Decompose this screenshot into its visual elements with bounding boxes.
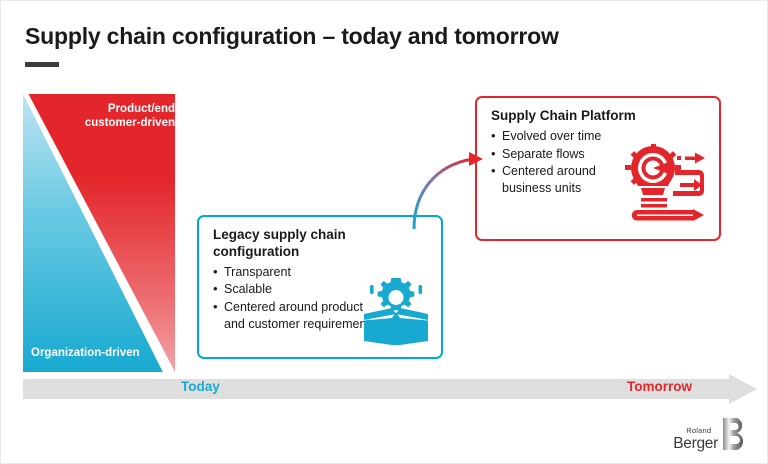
split-label-organization-driven: Organization-driven (31, 346, 151, 360)
logo-line-roland: Roland (686, 427, 711, 435)
logo-b-mark-icon (721, 417, 749, 451)
card-platform-body: Supply Chain Platform Evolved over time … (477, 98, 719, 239)
list-item: Evolved over time (491, 128, 632, 145)
logo-wordmark: Roland Berger (673, 427, 718, 451)
roland-berger-logo: Roland Berger (673, 417, 749, 451)
split-label-product-driven: Product/end customer-driven (55, 102, 175, 131)
card-legacy-title: Legacy supply chain configuration (213, 227, 381, 261)
diagonal-split-block: Product/end customer-driven Organization… (23, 94, 175, 372)
card-supply-chain-platform[interactable]: Supply Chain Platform Evolved over time … (475, 96, 721, 241)
card-platform-title: Supply Chain Platform (491, 108, 659, 125)
list-item: Transparent (213, 264, 382, 281)
timeline-label-today: Today (181, 379, 220, 394)
slide-canvas: Supply chain configuration – today and t… (0, 0, 768, 464)
card-legacy-supply-chain[interactable]: Legacy supply chain configuration Transp… (197, 215, 443, 359)
timeline-label-tomorrow: Tomorrow (627, 379, 692, 394)
logo-line-berger: Berger (673, 436, 718, 452)
list-item: Centered around product and customer req… (213, 299, 382, 332)
card-legacy-body: Legacy supply chain configuration Transp… (199, 217, 441, 357)
title-underline-rule (25, 62, 59, 67)
list-item: Separate flows (491, 146, 632, 163)
list-item: Scalable (213, 281, 382, 298)
page-title: Supply chain configuration – today and t… (25, 23, 559, 50)
lightbulb-gear-process-icon (623, 144, 711, 231)
list-item: Centered around business units (491, 163, 632, 196)
open-box-gear-icon (359, 270, 433, 353)
